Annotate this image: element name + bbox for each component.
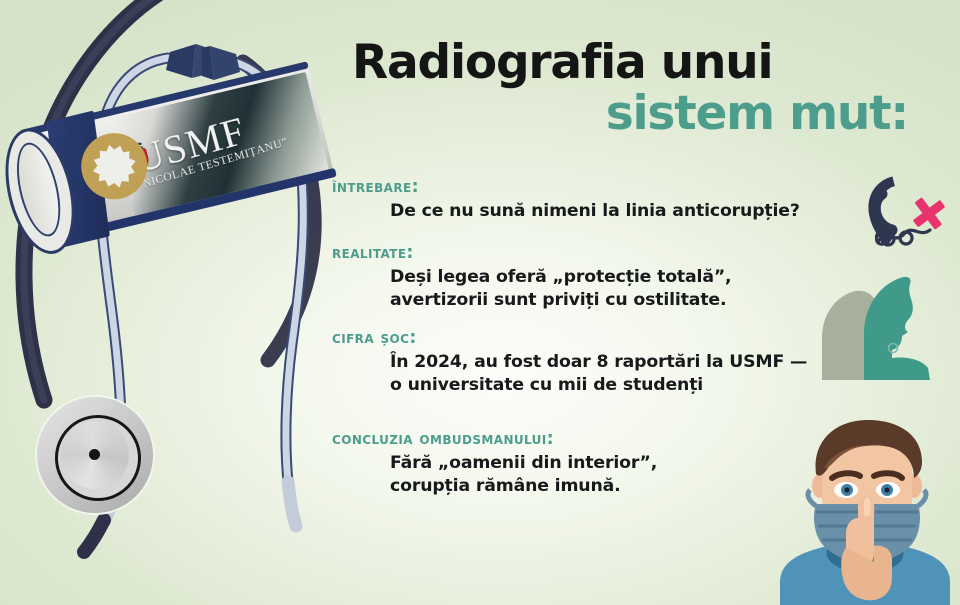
left-artwork: USMF ”NICOLAE TESTEMIȚANU” — [0, 0, 350, 605]
section-intrebare: Întrebare: De ce nu sună nimeni la linia… — [332, 176, 892, 224]
section-heading: Întrebare: — [332, 176, 892, 198]
infographic-poster: USMF ”NICOLAE TESTEMIȚANU” Radiografia u… — [0, 0, 960, 605]
section-realitate: Realitate: Deși legea oferă „protecție t… — [332, 242, 892, 313]
diploma-logo-panel: USMF ”NICOLAE TESTEMIȚANU” — [111, 72, 329, 216]
section-heading: Realitate: — [332, 242, 892, 264]
poster-title: Radiografia unui sistem mut: — [352, 38, 922, 140]
section-body-line: De ce nu sună nimeni la linia anticorupț… — [390, 200, 892, 224]
masked-doctor-shush-icon — [772, 412, 960, 605]
two-profile-silhouettes-icon — [812, 272, 960, 380]
section-cifra-soc: Cifra șoc: În 2024, au fost doar 8 rapor… — [332, 327, 892, 398]
section-heading: Cifra șoc: — [332, 327, 892, 349]
silhouette-front — [864, 277, 930, 380]
phone-handset-icon — [862, 172, 958, 258]
section-body: De ce nu sună nimeni la linia anticorupț… — [390, 200, 892, 224]
x-cancel-icon — [911, 196, 946, 230]
stethoscope-chestpiece — [37, 397, 153, 513]
title-line-1: Radiografia unui — [352, 38, 922, 88]
title-line-2: sistem mut: — [352, 88, 922, 140]
